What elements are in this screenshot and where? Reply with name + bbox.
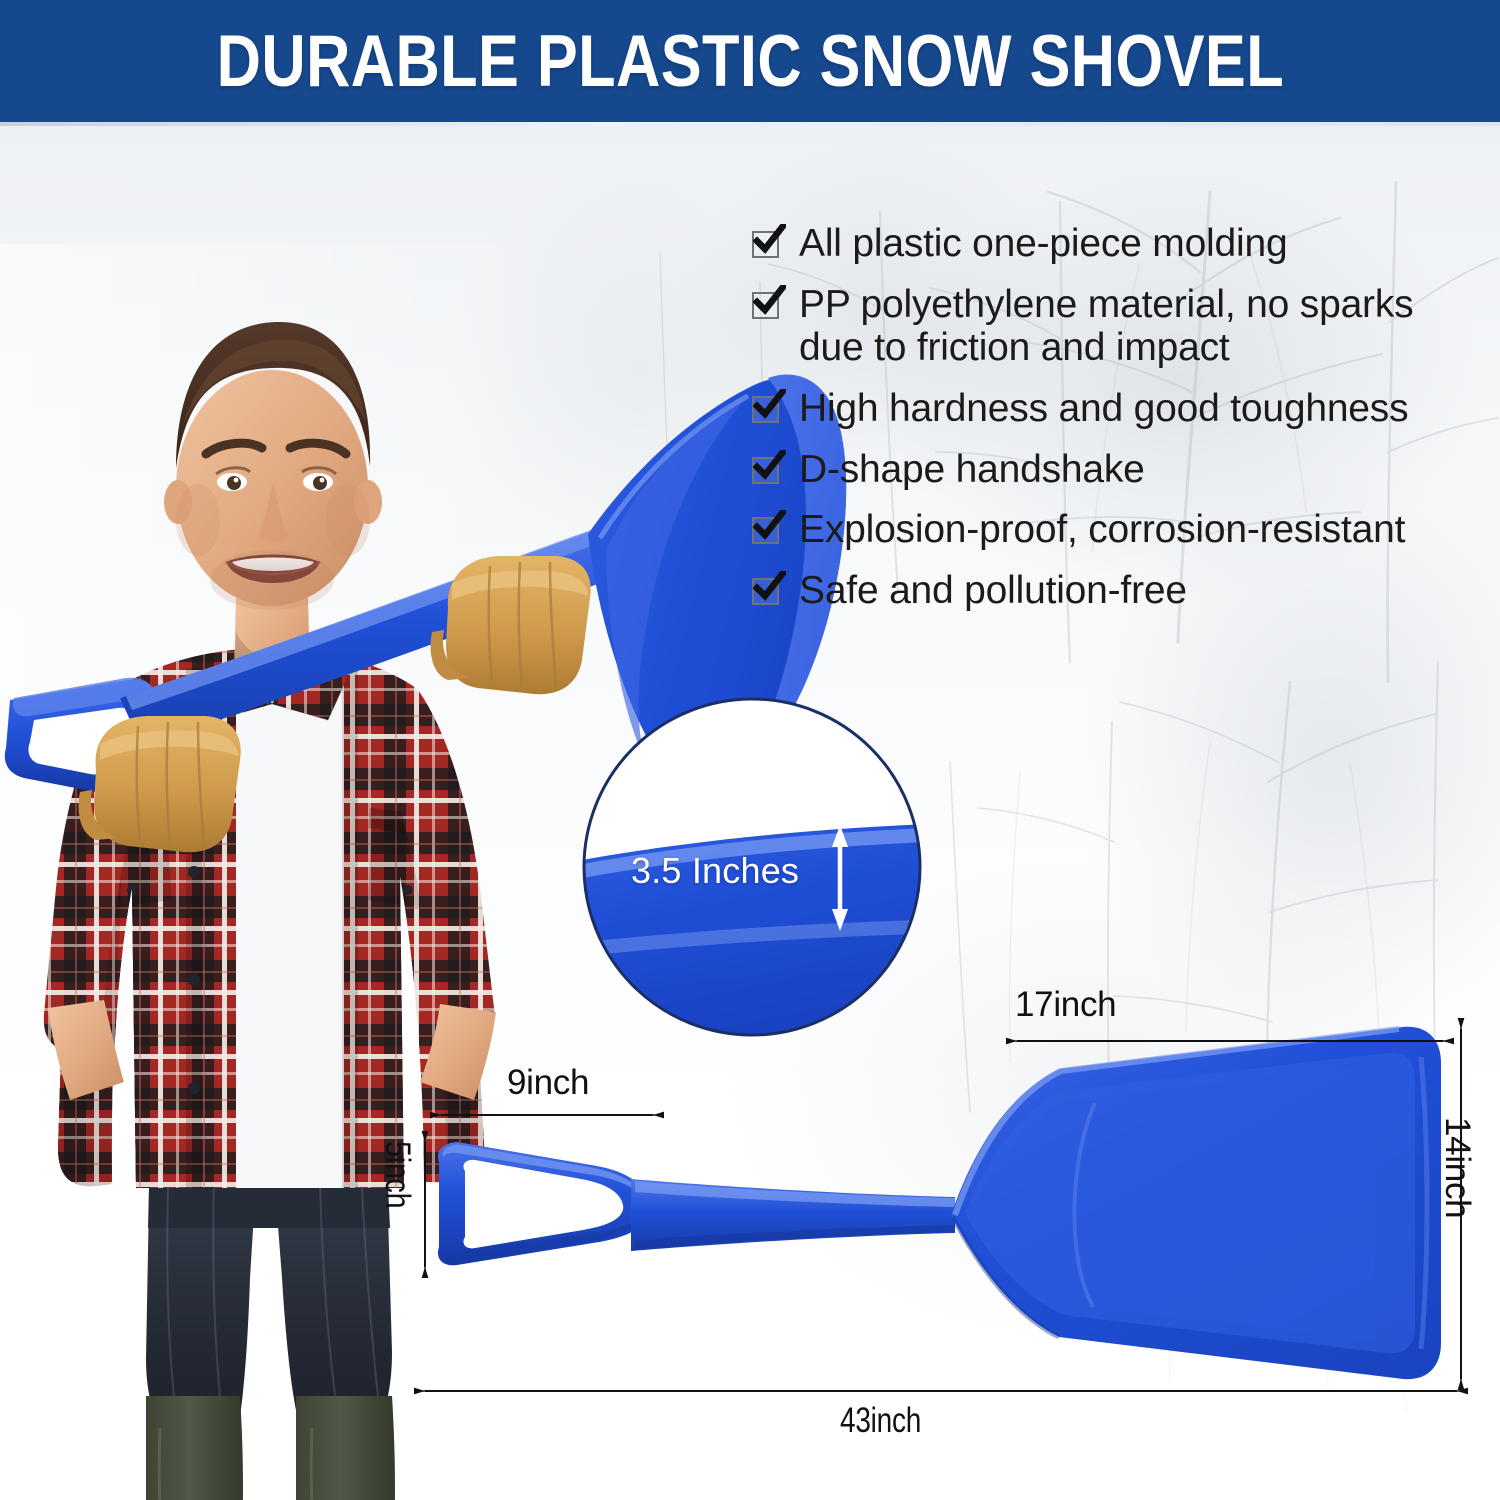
depth-callout: 3.5 Inches — [576, 697, 928, 1037]
checkbox-checked-icon — [752, 231, 782, 261]
feature-text: High hardness and good toughness — [799, 387, 1408, 431]
checkbox-checked-icon — [752, 457, 782, 487]
list-item: Safe and pollution-free — [752, 569, 1488, 613]
header-banner: DURABLE PLASTIC SNOW SHOVEL — [0, 0, 1500, 122]
dimension-shovel-handle — [438, 1142, 649, 1265]
blade-width-label: 17inch — [1015, 987, 1116, 1022]
list-item: Explosion-proof, corrosion-resistant — [752, 508, 1488, 552]
feature-text: D-shape handshake — [799, 448, 1145, 492]
dimension-shovel-blade — [951, 1027, 1441, 1379]
total-length-label: 43inch — [840, 1403, 921, 1438]
blade-height-label: 14inch — [1440, 1117, 1475, 1218]
callout-label: 3.5 Inches — [631, 850, 799, 892]
handle-length-label: 9inch — [507, 1065, 589, 1100]
product-infographic: DURABLE PLASTIC SNOW SHOVEL All plastic … — [0, 0, 1500, 1500]
list-item: All plastic one-piece molding — [752, 222, 1488, 266]
list-item: PP polyethylene material, no sparks due … — [752, 283, 1488, 370]
feature-text: All plastic one-piece molding — [799, 222, 1287, 266]
checkbox-checked-icon — [752, 396, 782, 426]
right-boot — [287, 1396, 408, 1500]
dimension-diagram: 17inch 9inch 5inch 14inch 43inch — [395, 965, 1500, 1440]
left-boot — [137, 1396, 256, 1500]
header-underline — [0, 122, 1500, 126]
list-item: D-shape handshake — [752, 448, 1488, 492]
list-item: High hardness and good toughness — [752, 387, 1488, 431]
feature-text: Explosion-proof, corrosion-resistant — [799, 508, 1405, 552]
feature-list: All plastic one-piece molding PP polyeth… — [752, 222, 1488, 630]
page-title: DURABLE PLASTIC SNOW SHOVEL — [216, 25, 1283, 98]
feature-text: PP polyethylene material, no sparks due … — [799, 283, 1488, 370]
handle-height-label: 5inch — [380, 1141, 415, 1208]
checkbox-checked-icon — [752, 578, 782, 608]
checkbox-checked-icon — [752, 292, 782, 322]
feature-text: Safe and pollution-free — [799, 569, 1187, 613]
checkbox-checked-icon — [752, 517, 782, 547]
